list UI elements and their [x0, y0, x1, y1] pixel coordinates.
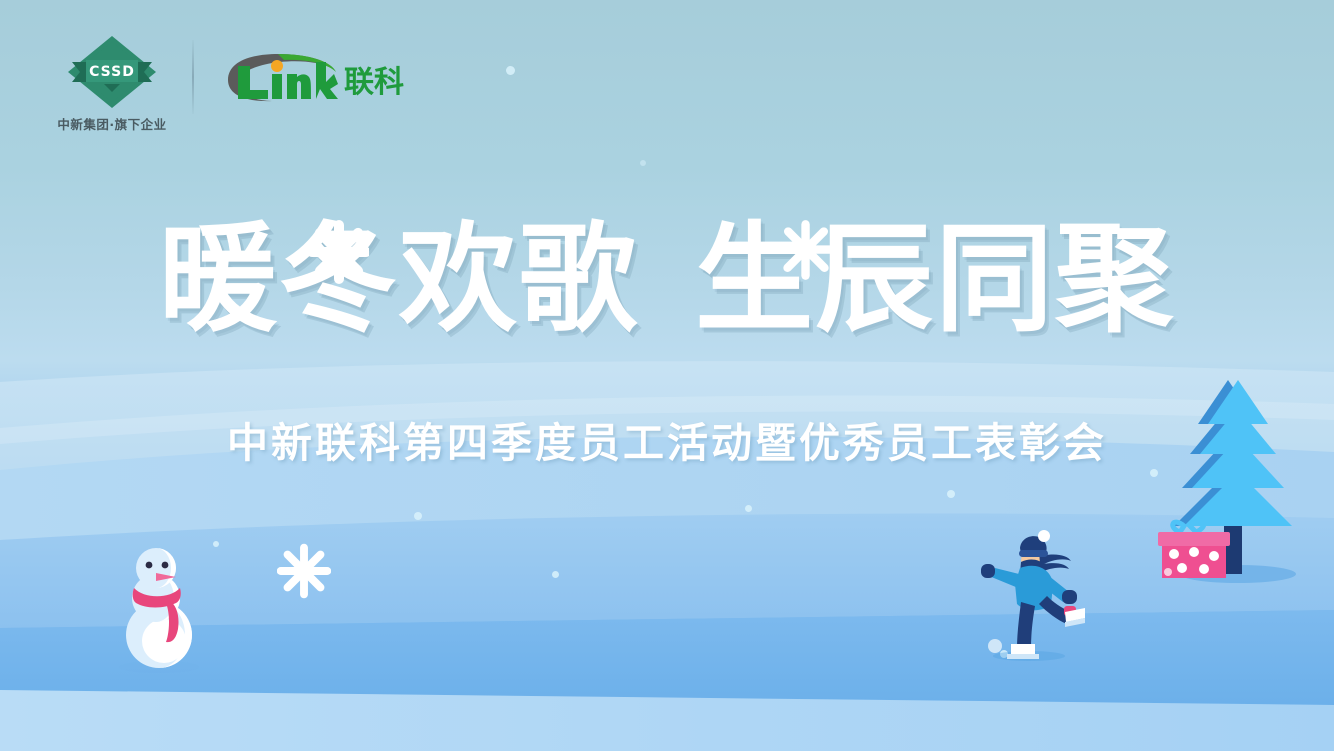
gift-lid [1158, 532, 1230, 546]
brand-divider [192, 40, 194, 114]
snowman-illustration [104, 543, 214, 677]
ice-skater-illustration [965, 528, 1085, 667]
skater-mitten [1062, 590, 1077, 604]
snow-dot [414, 512, 422, 520]
skater-mitten [981, 564, 995, 578]
snowman-eye [146, 562, 153, 569]
snow-dot [640, 160, 646, 166]
cssd-monogram-text: CSSD [89, 64, 135, 80]
link-chinese-name: 联科 [344, 57, 404, 101]
skater-pompom [1038, 530, 1050, 542]
snow-dot [506, 66, 515, 75]
decorative-snowflake-icon [277, 542, 331, 604]
skater-leg [1017, 602, 1035, 648]
snow-dot [745, 505, 752, 512]
event-subtitle: 中新联科第四季度员工活动暨优秀员工表彰会 [0, 409, 1334, 469]
poster-canvas: CSSD 中新集团·旗下企业 [0, 0, 1334, 751]
christmas-tree-illustration [1146, 366, 1321, 595]
link-logo: 联科 [220, 54, 404, 104]
link-wordmark-icon [220, 54, 338, 104]
snow-dot [947, 490, 955, 498]
snow-dot [552, 571, 559, 578]
snowman-eye [162, 562, 169, 569]
brand-logo-bar: CSSD 中新集团·旗下企业 [52, 34, 404, 133]
skater-skate [1011, 644, 1035, 654]
cssd-logo: CSSD 中新集团·旗下企业 [52, 34, 172, 133]
cssd-diamond-icon: CSSD [66, 34, 158, 110]
cssd-caption: 中新集团·旗下企业 [57, 114, 166, 133]
